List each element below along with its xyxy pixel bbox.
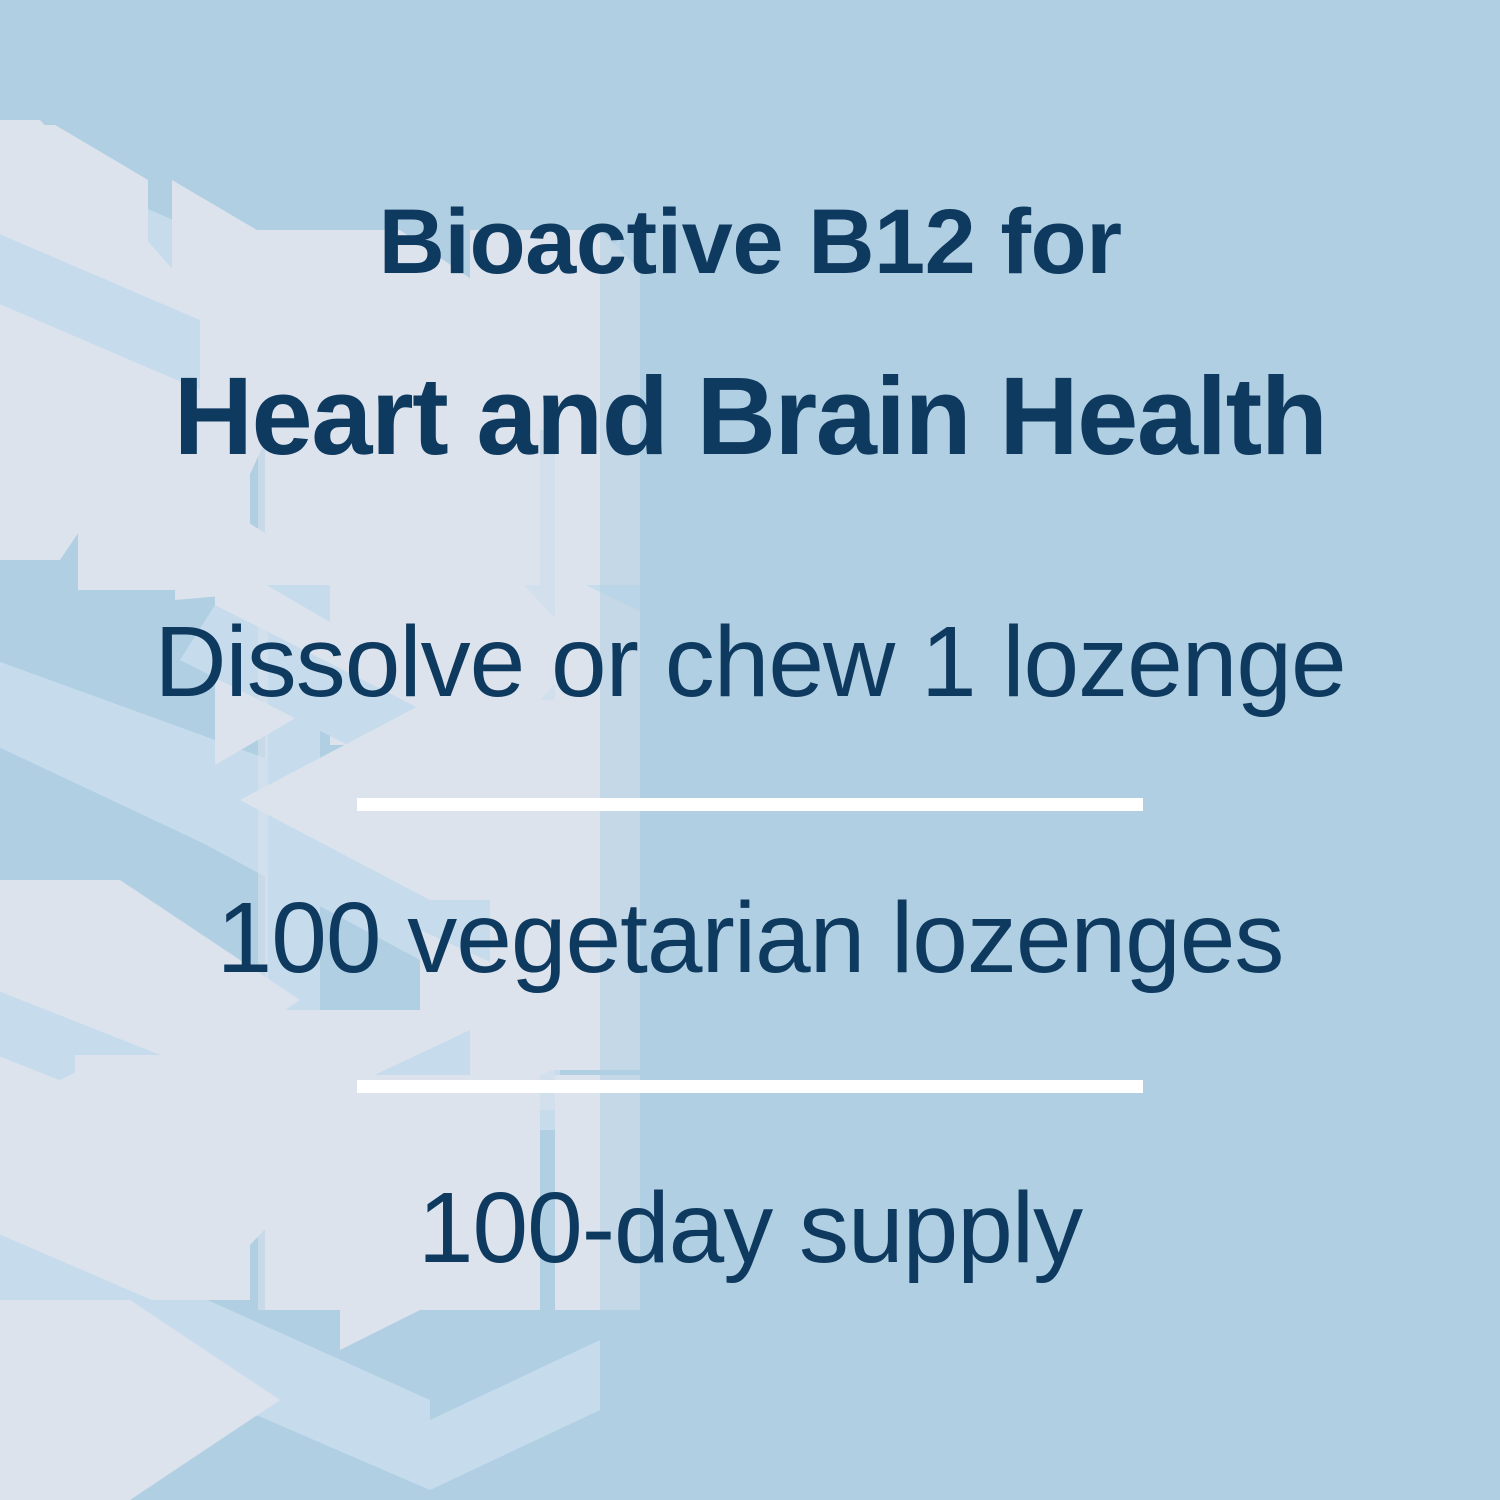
divider-bottom [357, 1080, 1143, 1093]
text-stack: Bioactive B12 for Heart and Brain Health… [0, 0, 1500, 1500]
divider-top [357, 798, 1143, 811]
supply-duration-text: 100-day supply [0, 1178, 1500, 1278]
eyebrow-text: Bioactive B12 for [0, 196, 1500, 288]
lozenge-count-text: 100 vegetarian lozenges [0, 888, 1500, 988]
headline-text: Heart and Brain Health [0, 362, 1500, 472]
directions-text: Dissolve or chew 1 lozenge [0, 612, 1500, 712]
product-feature-panel: Bioactive B12 for Heart and Brain Health… [0, 0, 1500, 1500]
